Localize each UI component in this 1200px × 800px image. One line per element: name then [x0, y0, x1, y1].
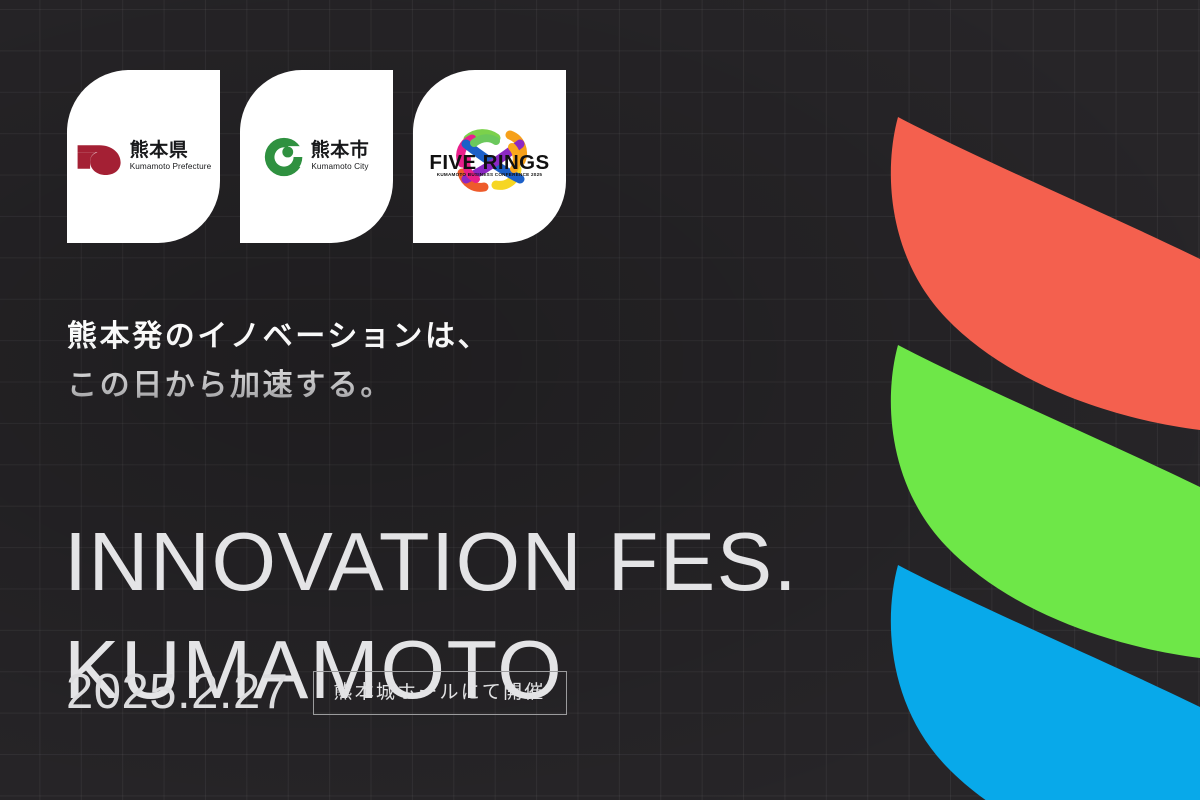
- poster-content: 熊本県 Kumamoto Prefecture: [0, 0, 1200, 800]
- logo-label-en: Kumamoto Prefecture: [130, 163, 212, 171]
- five-rings-wordmark: FIVE RINGS: [424, 153, 556, 174]
- poster-canvas: 熊本県 Kumamoto Prefecture: [0, 0, 1200, 800]
- title-line-1: INNOVATION FES.: [64, 508, 798, 617]
- tagline-line-1: 熊本発のイノベーションは、: [67, 313, 490, 362]
- event-info-row: 2025.2.27 熊本城ホールにて開催: [66, 668, 567, 717]
- tagline-line-2: この日から加速する。: [67, 362, 490, 411]
- logo-card-kumamoto-city: 熊本市 Kumamoto City: [240, 70, 393, 243]
- venue-badge: 熊本城ホールにて開催: [313, 671, 567, 715]
- logo-card-five-rings: FIVE RINGS KUMAMOTO BUSINESS CONFERENCE …: [413, 70, 566, 243]
- logo-card-kumamoto-prefecture: 熊本県 Kumamoto Prefecture: [67, 70, 220, 243]
- event-date: 2025.2.27: [66, 668, 289, 717]
- tagline: 熊本発のイノベーションは、 この日から加速する。: [67, 313, 490, 410]
- logo-label-jp: 熊本県: [130, 141, 212, 160]
- kumamoto-city-mark: [264, 137, 304, 177]
- five-rings-subtitle: KUMAMOTO BUSINESS CONFERENCE 2025: [424, 173, 556, 178]
- sponsor-logo-row: 熊本県 Kumamoto Prefecture: [67, 70, 566, 243]
- logo-label-jp: 熊本市: [311, 141, 370, 160]
- logo-label-en: Kumamoto City: [311, 163, 370, 171]
- kumamoto-prefecture-mark: [76, 139, 123, 175]
